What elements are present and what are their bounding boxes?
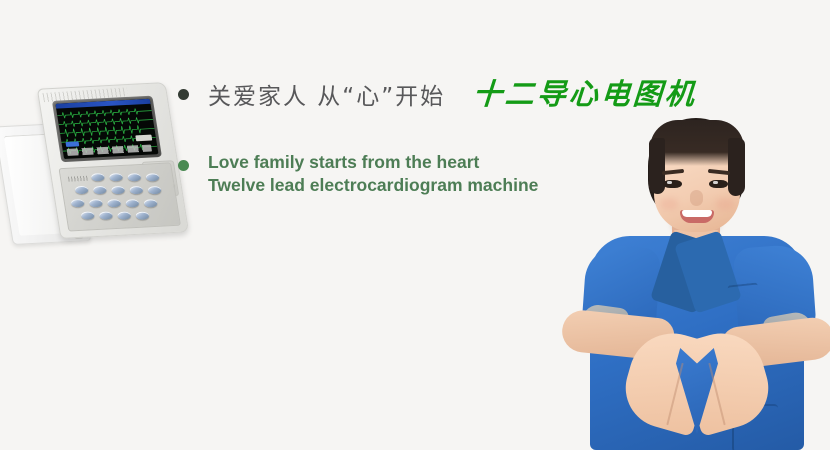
product-name-chinese: 十二导心电图机 — [472, 78, 698, 110]
device-screen-bezel — [52, 96, 162, 162]
device-key[interactable] — [117, 211, 131, 220]
tagline-english-line-2: Twelve lead electrocardiogram machine — [208, 174, 538, 197]
nurse-cheek-left — [660, 198, 678, 210]
device-key[interactable] — [143, 199, 157, 208]
nurse-hair-side-left — [649, 138, 665, 194]
device-key[interactable] — [71, 199, 85, 208]
nurse-eye-right — [709, 180, 728, 188]
device-key[interactable] — [81, 211, 95, 220]
device-key[interactable] — [127, 173, 141, 182]
device-brand-mark — [68, 176, 89, 182]
tagline-english-line-1: Love family starts from the heart — [208, 151, 538, 174]
nurse-eye-left — [663, 180, 682, 188]
nurse-eye-highlight-left — [667, 181, 672, 184]
device-key[interactable] — [129, 186, 143, 195]
screen-corner-label — [135, 135, 152, 142]
device-key[interactable] — [135, 211, 149, 220]
bullet-dark-icon — [178, 89, 189, 100]
ecg-device-image — [2, 88, 180, 250]
nurse-teeth — [682, 210, 712, 217]
nurse-cheek-right — [716, 198, 734, 210]
nurse-eye-highlight-right — [713, 181, 718, 184]
headline-chinese: 关爱家人 从“心”开始 — [208, 81, 445, 113]
device-key[interactable] — [99, 211, 113, 220]
device-key[interactable] — [89, 199, 103, 208]
device-key[interactable] — [75, 186, 89, 195]
nurse-photo — [556, 118, 830, 450]
headline-text-group: 关爱家人 从“心”开始 十二导心电图机 — [208, 78, 697, 113]
device-screen — [55, 99, 158, 159]
device-key[interactable] — [147, 186, 161, 195]
headline-row: 关爱家人 从“心”开始 十二导心电图机 — [178, 78, 698, 113]
device-key[interactable] — [91, 173, 105, 182]
device-key[interactable] — [111, 186, 125, 195]
promo-banner: 关爱家人 从“心”开始 十二导心电图机 Love family starts f… — [0, 0, 830, 450]
nurse-hair-side-right — [728, 138, 745, 196]
device-key[interactable] — [125, 199, 139, 208]
device-key[interactable] — [109, 173, 123, 182]
nurse-nose — [690, 190, 703, 206]
screen-status-chip — [65, 141, 79, 147]
device-body — [37, 82, 189, 239]
device-key[interactable] — [107, 199, 121, 208]
bullet-green-icon — [178, 160, 189, 171]
device-keypad — [58, 162, 180, 231]
ecg-device — [0, 75, 192, 263]
device-key[interactable] — [93, 186, 107, 195]
tagline-english: Love family starts from the heart Twelve… — [208, 151, 538, 197]
device-key[interactable] — [145, 173, 159, 182]
nurse-mouth — [680, 210, 714, 223]
